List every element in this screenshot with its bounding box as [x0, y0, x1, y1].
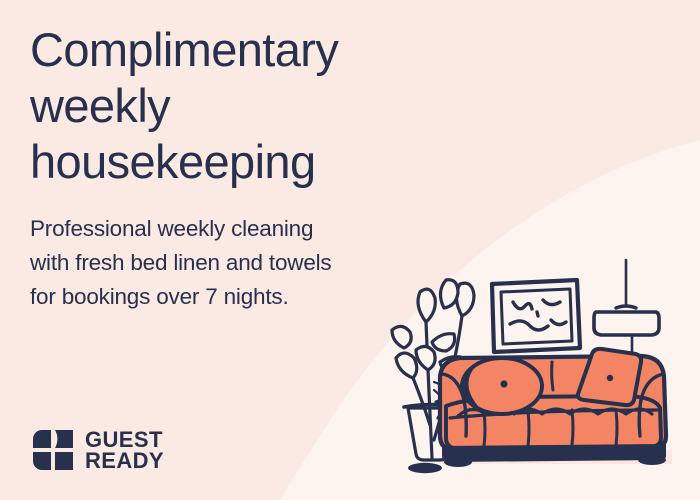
guestready-logo[interactable]: GUEST READY	[31, 428, 164, 472]
page-title: Complimentary weekly housekeeping	[30, 22, 450, 190]
copy-block: Complimentary weekly housekeeping Profes…	[30, 22, 450, 314]
guestready-quadrant-mark-icon	[31, 428, 75, 472]
framed-picture-icon	[492, 280, 580, 352]
round-pillow-icon	[462, 358, 542, 414]
logo-line-1: GUEST	[85, 429, 164, 450]
logo-line-2: READY	[85, 450, 164, 471]
sofa-icon	[440, 349, 672, 467]
promo-banner: Complimentary weekly housekeeping Profes…	[0, 0, 700, 500]
page-subtitle: Professional weekly cleaning with fresh …	[30, 212, 450, 315]
logo-wordmark: GUEST READY	[85, 429, 164, 471]
pendant-lamp-icon	[594, 260, 659, 358]
